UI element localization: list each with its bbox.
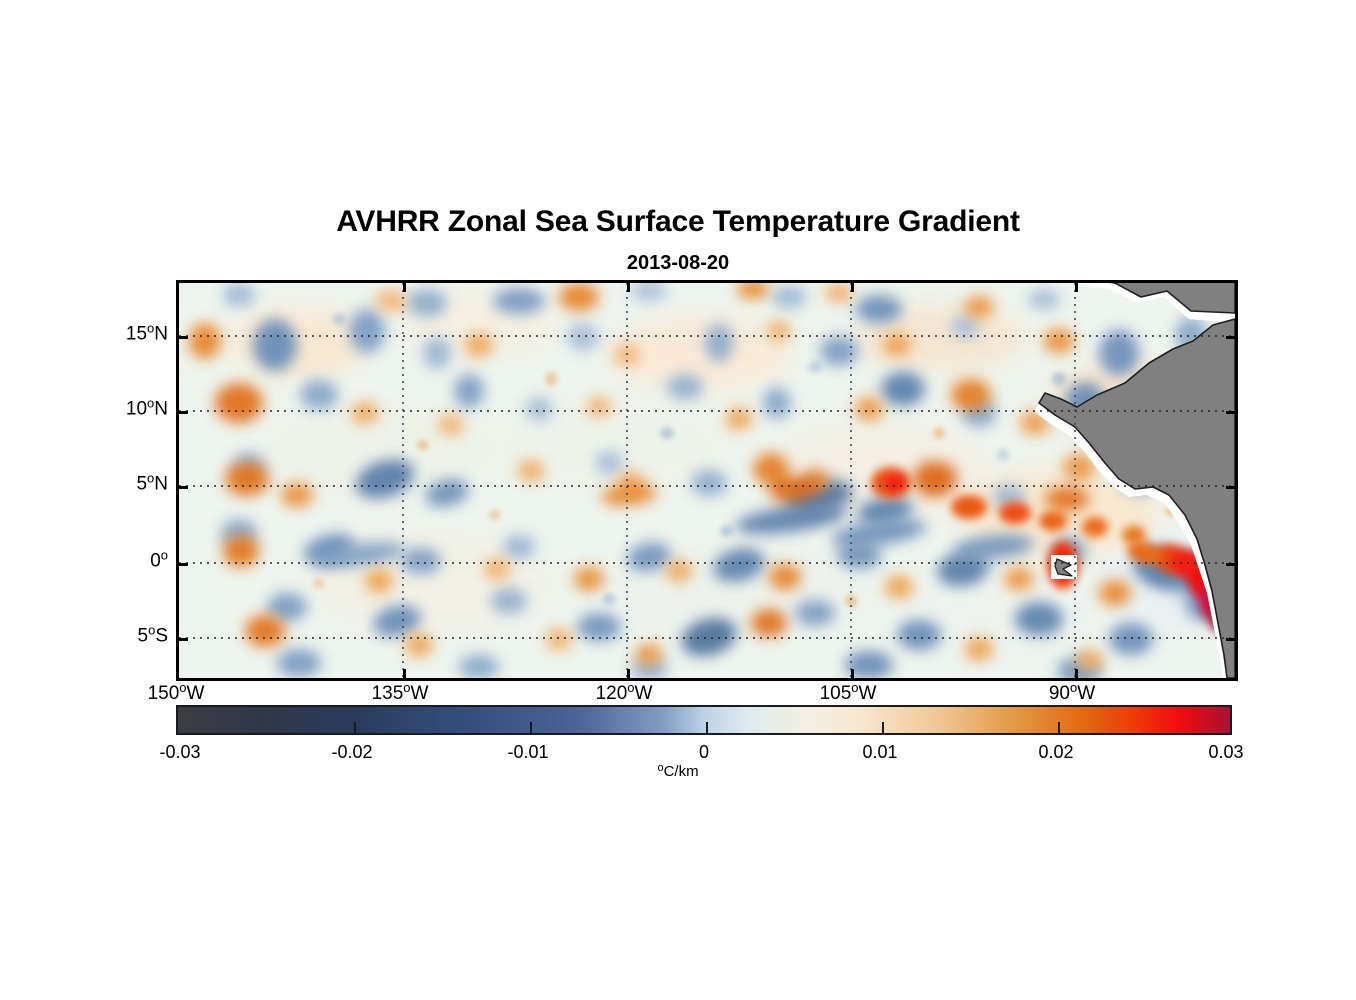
xtick-label-120W: 120oW: [596, 680, 653, 705]
ytick-right-0: [1226, 563, 1235, 566]
figure-canvas: AVHRR Zonal Sea Surface Temperature Grad…: [0, 0, 1356, 1000]
map-plot-area: [179, 283, 1235, 678]
xtick-top-90W: [1075, 283, 1078, 292]
figure-title: AVHRR Zonal Sea Surface Temperature Grad…: [0, 205, 1356, 239]
ytick-label-10N: 10oN: [126, 396, 168, 421]
ytick-left-5N: [179, 486, 188, 489]
ytick-right-10N: [1226, 411, 1235, 414]
colorbar-tick-0.02: [1058, 722, 1060, 733]
colorbar-tick-0.01: [882, 722, 884, 733]
colorbar-gradient: [178, 707, 1230, 733]
map-axes[interactable]: [176, 280, 1238, 681]
colorbar-label-0.03: 0.03: [1208, 742, 1243, 763]
xtick-bottom-120W: [627, 669, 630, 678]
gridlines-layer: [179, 283, 1235, 678]
ytick-right-15N: [1226, 336, 1235, 339]
colorbar-label-0.01: 0.01: [862, 742, 897, 763]
ytick-right-5N: [1226, 486, 1235, 489]
xtick-label-90W: 90oW: [1049, 680, 1095, 705]
colorbar-tick-0: [706, 722, 708, 733]
colorbar-label--0.03: -0.03: [159, 742, 200, 763]
xtick-label-105W: 105oW: [820, 680, 877, 705]
xtick-label-135W: 135oW: [372, 680, 429, 705]
ytick-label-5N: 5oN: [136, 471, 168, 496]
xtick-bottom-105W: [851, 669, 854, 678]
colorbar-label-0.02: 0.02: [1038, 742, 1073, 763]
ytick-left-10N: [179, 411, 188, 414]
xtick-top-120W: [627, 283, 630, 292]
ytick-label-0: 0o: [150, 548, 168, 573]
colorbar-label--0.02: -0.02: [331, 742, 372, 763]
xtick-top-105W: [851, 283, 854, 292]
xtick-bottom-90W: [1075, 669, 1078, 678]
xtick-top-135W: [403, 283, 406, 292]
ytick-left-5S: [179, 638, 188, 641]
ytick-label-5S: 5oS: [138, 623, 169, 648]
ytick-left-0: [179, 563, 188, 566]
ytick-label-15N: 15oN: [126, 321, 168, 346]
colorbar[interactable]: [176, 705, 1232, 735]
colorbar-label--0.01: -0.01: [507, 742, 548, 763]
ytick-right-5S: [1226, 638, 1235, 641]
colorbar-tick--0.01: [530, 722, 532, 733]
figure-subtitle: 2013-08-20: [0, 252, 1356, 275]
colorbar-units-label: oC/km: [0, 762, 1356, 780]
colorbar-label-0: 0: [699, 742, 709, 763]
ytick-left-15N: [179, 336, 188, 339]
colorbar-tick--0.02: [354, 722, 356, 733]
xtick-bottom-135W: [403, 669, 406, 678]
xtick-label-150W: 150oW: [148, 680, 205, 705]
